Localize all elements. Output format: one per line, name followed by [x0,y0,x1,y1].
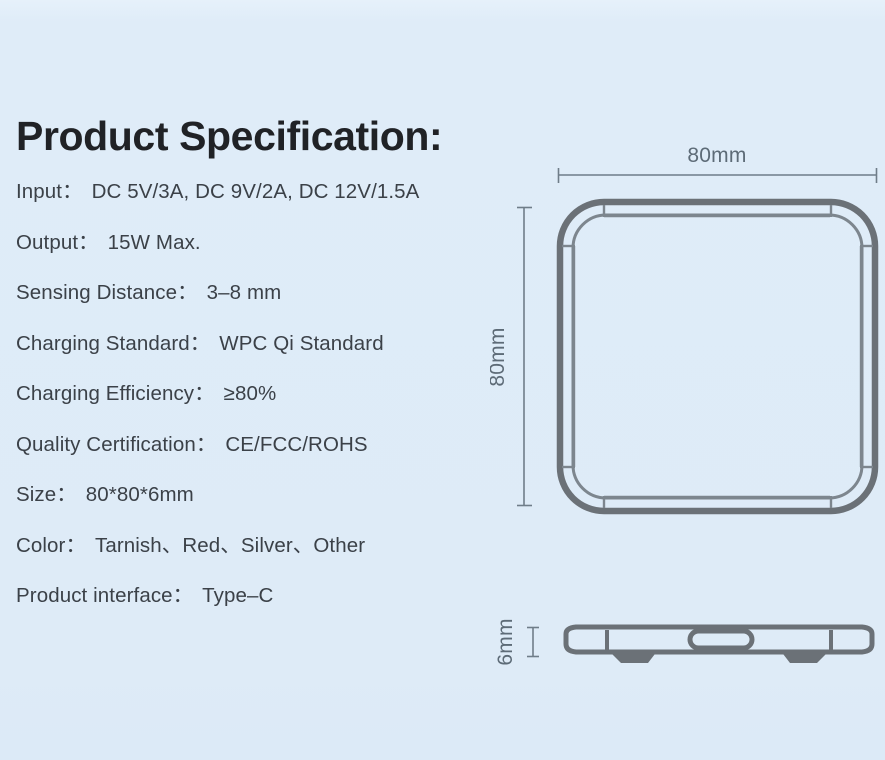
spec-colon: ： [190,332,211,355]
spec-row-quality-certification: Quality Certification：CE/FCC/ROHS [16,435,516,456]
spec-row-product-interface: Product interface：Type–C [16,586,516,607]
product-drawing-panel: 80mm 80mm [490,0,885,760]
charger-inner-pad [573,215,862,498]
height-dimension: 80mm [490,207,532,506]
spec-value-color: Tarnish、Red、Silver、Other [95,534,365,557]
spec-label-charging-standard: Charging Standard [16,332,190,355]
thickness-dimension: 6mm [494,618,539,665]
charger-top-view [560,202,875,511]
product-drawing-svg: 80mm 80mm [490,0,885,760]
spec-row-input: Input：DC 5V/3A, DC 9V/2A, DC 12V/1.5A [16,182,516,203]
spec-value-output: 15W Max. [108,231,201,254]
spec-value-quality-certification: CE/FCC/ROHS [225,433,367,456]
spec-colon: ： [66,534,87,557]
spec-value-charging-standard: WPC Qi Standard [219,332,383,355]
spec-colon: ： [56,483,77,506]
specification-panel: Product Specification: Input：DC 5V/3A, D… [16,114,516,607]
spec-colon: ： [62,180,83,203]
spec-value-sensing-distance: 3–8 mm [207,281,282,304]
spec-row-sensing-distance: Sensing Distance：3–8 mm [16,283,516,304]
spec-label-charging-efficiency: Charging Efficiency [16,382,194,405]
spec-label-size: Size [16,483,56,506]
charger-outer-body [560,202,875,511]
spec-label-sensing-distance: Sensing Distance [16,281,177,304]
width-dimension: 80mm [558,144,877,183]
spec-row-charging-efficiency: Charging Efficiency：≥80% [16,384,516,405]
spec-label-input: Input [16,180,62,203]
spec-label-quality-certification: Quality Certification [16,433,196,456]
usb-c-port-icon [690,631,752,648]
charger-side-view [566,627,872,663]
spec-colon: ： [78,231,99,254]
spec-label-product-interface: Product interface [16,584,173,607]
spec-value-charging-efficiency: ≥80% [224,382,277,405]
spec-row-charging-standard: Charging Standard：WPC Qi Standard [16,334,516,355]
spec-row-output: Output：15W Max. [16,233,516,254]
spec-value-input: DC 5V/3A, DC 9V/2A, DC 12V/1.5A [92,180,420,203]
spec-row-color: Color：Tarnish、Red、Silver、Other [16,536,516,557]
spec-value-size: 80*80*6mm [86,483,194,506]
spec-colon: ： [177,281,198,304]
spec-row-size: Size：80*80*6mm [16,485,516,506]
page-title: Product Specification: [16,114,516,158]
spec-label-color: Color [16,534,66,557]
spec-colon: ： [194,382,215,405]
spec-colon: ： [196,433,217,456]
thickness-dimension-label: 6mm [494,618,517,665]
product-specification-page: Product Specification: Input：DC 5V/3A, D… [0,0,885,760]
spec-colon: ： [173,584,194,607]
spec-label-output: Output [16,231,78,254]
spec-value-product-interface: Type–C [202,584,273,607]
height-dimension-label: 80mm [490,327,509,386]
width-dimension-label: 80mm [687,144,746,167]
